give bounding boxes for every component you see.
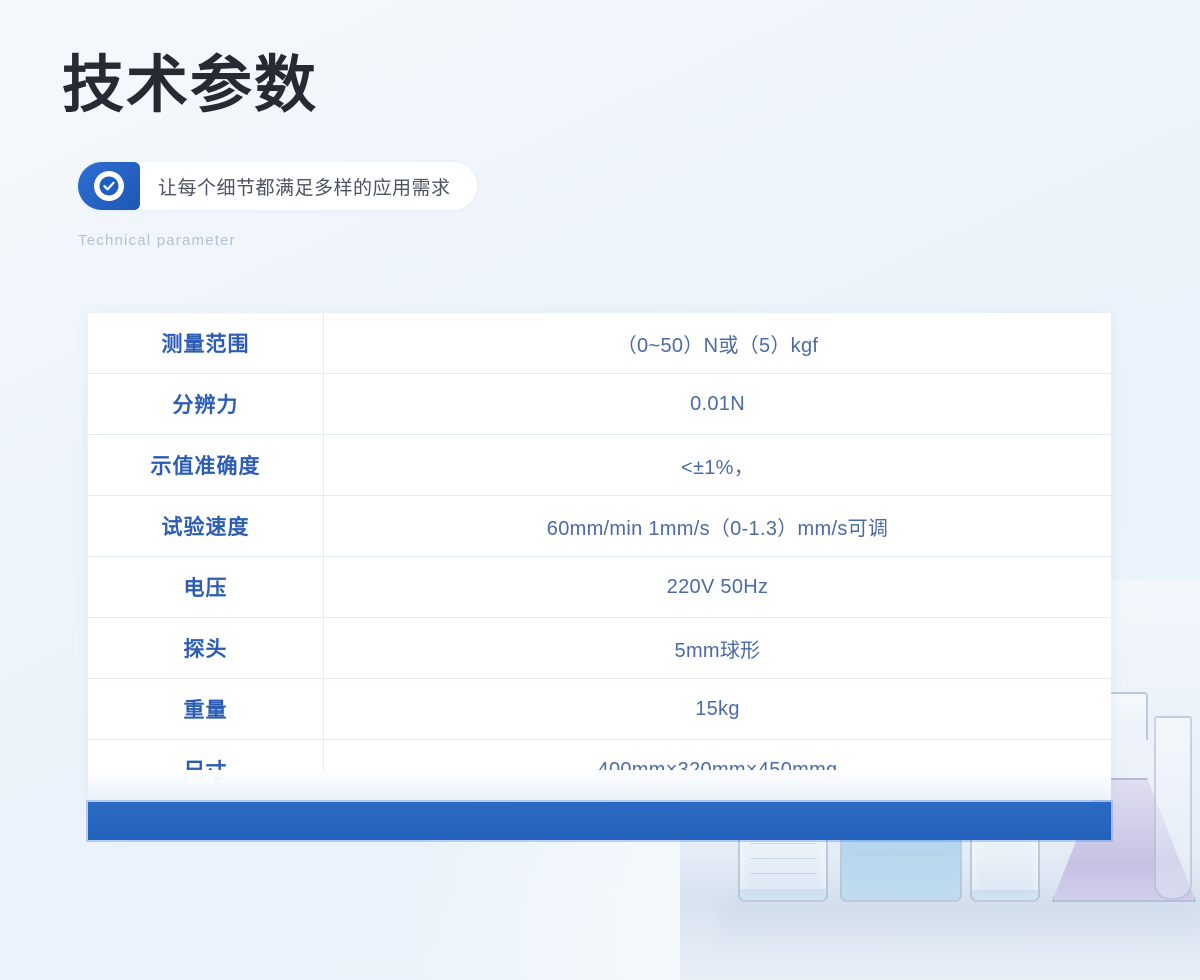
spec-table: 测量范围 （0~50）N或（5）kgf 分辨力 0.01N 示值准确度 <±1%…	[88, 313, 1111, 800]
spec-label: 试验速度	[88, 496, 324, 556]
spec-value: 220V 50Hz	[324, 557, 1111, 617]
tagline-text: 让每个细节都满足多样的应用需求	[158, 173, 451, 200]
badge-icon-container	[78, 162, 140, 210]
table-bottom-accent-bar	[88, 802, 1111, 840]
page-title: 技术参数	[62, 52, 318, 117]
spec-label: 分辨力	[88, 374, 324, 434]
tagline-badge: 让每个细节都满足多样的应用需求	[78, 162, 477, 210]
beaker-liquid	[972, 890, 1038, 900]
check-circle-icon	[94, 171, 124, 201]
spec-value: 5mm球形	[324, 618, 1111, 678]
spec-value: 15kg	[324, 679, 1111, 739]
spec-value: 0.01N	[324, 374, 1111, 434]
beaker-liquid	[740, 889, 826, 900]
table-row: 分辨力 0.01N	[88, 374, 1111, 435]
table-row: 测量范围 （0~50）N或（5）kgf	[88, 313, 1111, 374]
spec-label: 示值准确度	[88, 435, 324, 495]
photo-bench	[680, 860, 1200, 980]
spec-value: 60mm/min 1mm/s（0-1.3）mm/s可调	[324, 496, 1111, 556]
table-row: 探头 5mm球形	[88, 618, 1111, 679]
spec-value: <±1%，	[324, 435, 1111, 495]
page-root: 技术参数 让每个细节都满足多样的应用需求 Technical parameter…	[0, 0, 1200, 980]
table-row: 重量 15kg	[88, 679, 1111, 740]
table-row: 示值准确度 <±1%，	[88, 435, 1111, 496]
table-row: 试验速度 60mm/min 1mm/s（0-1.3）mm/s可调	[88, 496, 1111, 557]
spec-label: 电压	[88, 557, 324, 617]
spec-value: （0~50）N或（5）kgf	[324, 313, 1111, 373]
spec-label: 探头	[88, 618, 324, 678]
header: 技术参数	[62, 52, 318, 117]
spec-label: 测量范围	[88, 313, 324, 373]
test-tube-icon	[1154, 716, 1192, 900]
subtitle-english: Technical parameter	[78, 232, 236, 249]
spec-label: 重量	[88, 679, 324, 739]
bench-reflection	[720, 902, 1200, 950]
table-row: 电压 220V 50Hz	[88, 557, 1111, 618]
beaker-liquid	[842, 837, 960, 900]
table-bottom-fade	[88, 770, 1111, 800]
